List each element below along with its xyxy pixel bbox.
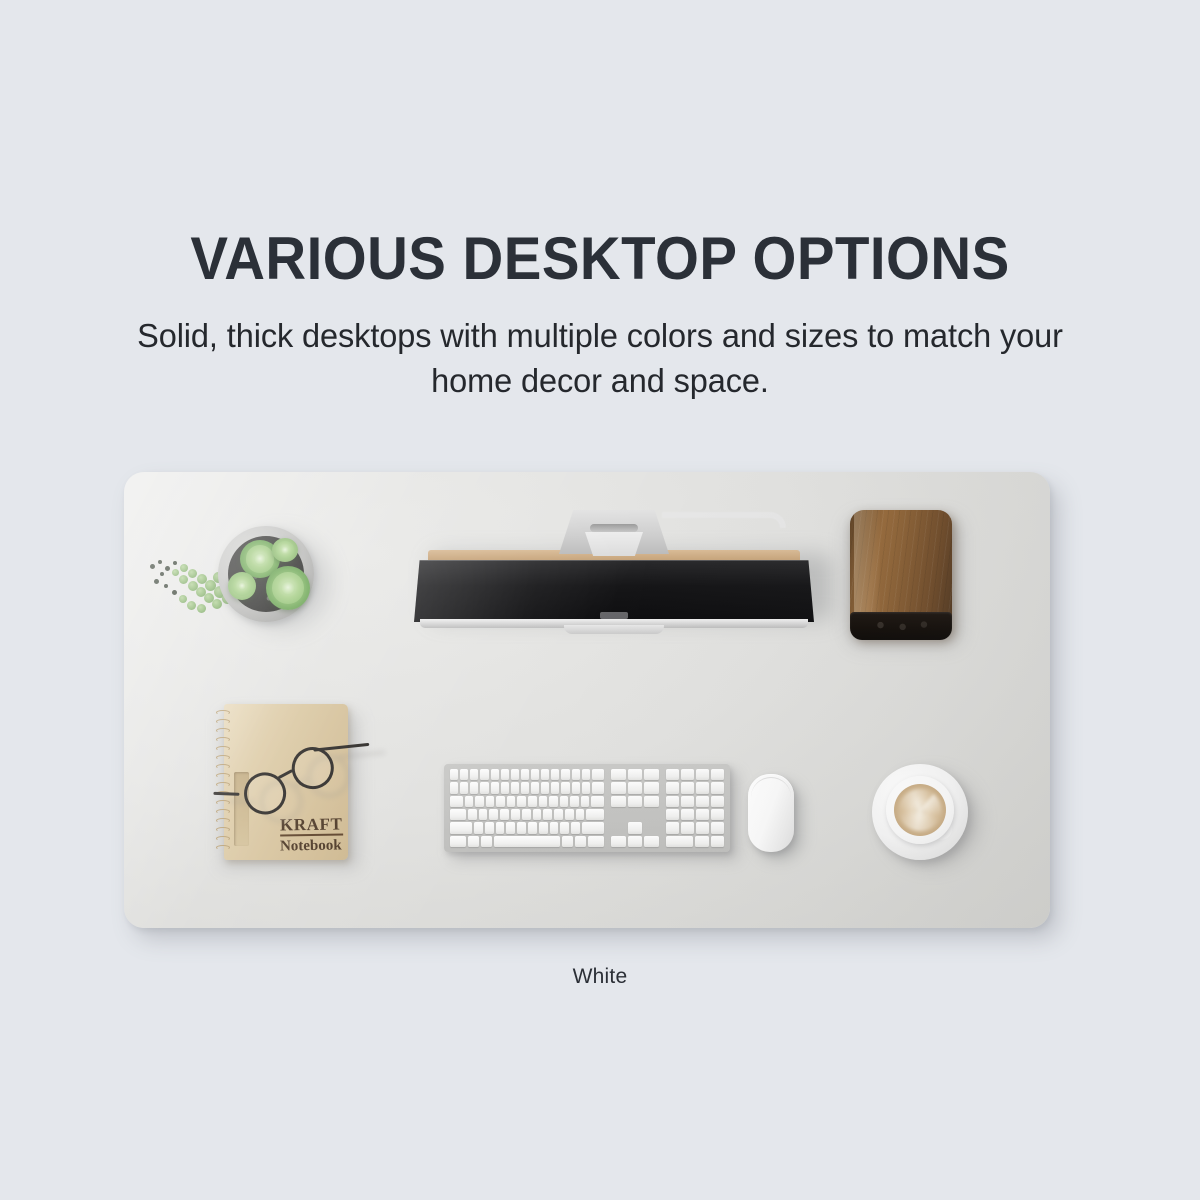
keyboard-numpad-cluster [666,769,724,847]
desktop-surface: KRAFT Notebook [124,472,1050,928]
latte-art [894,784,946,836]
mouse [748,774,806,860]
mouse-body [748,774,794,852]
wooden-speaker [838,508,958,648]
monitor [414,498,814,638]
monitor-stand [559,510,669,558]
monitor-logo [600,612,628,619]
monitor-foot [564,625,664,634]
page-subtitle: Solid, thick desktops with multiple colo… [9,314,1191,402]
wooden-speaker-top [850,612,952,640]
page-title: VARIOUS DESKTOP OPTIONS [36,228,1164,290]
glasses-bridge [278,769,294,780]
potted-plant [142,518,332,638]
stand-hinge [585,532,643,556]
coffee-cup [872,764,984,868]
succulent-rosette [266,566,310,610]
desk-scene: KRAFT Notebook [124,472,1050,928]
keyboard-nav-cluster [611,769,659,847]
notebook-brand-secondary: Notebook [280,838,344,854]
hero-banner: VARIOUS DESKTOP OPTIONS Solid, thick des… [0,0,1200,1200]
cable-management-slot [590,524,638,532]
cup [886,776,954,844]
notebook-spiral-binding [216,710,230,854]
heading-block: VARIOUS DESKTOP OPTIONS Solid, thick des… [0,228,1200,403]
keyboard-main-cluster [450,769,604,847]
succulent-rosette [228,572,256,600]
succulent-rosette [272,538,298,562]
monitor-cable [662,512,786,528]
keyboard-body [444,764,730,852]
keyboard [444,764,736,860]
color-swatch-caption: White [0,965,1200,989]
kraft-notebook: KRAFT Notebook [210,704,360,872]
mouse-seam [751,777,791,849]
